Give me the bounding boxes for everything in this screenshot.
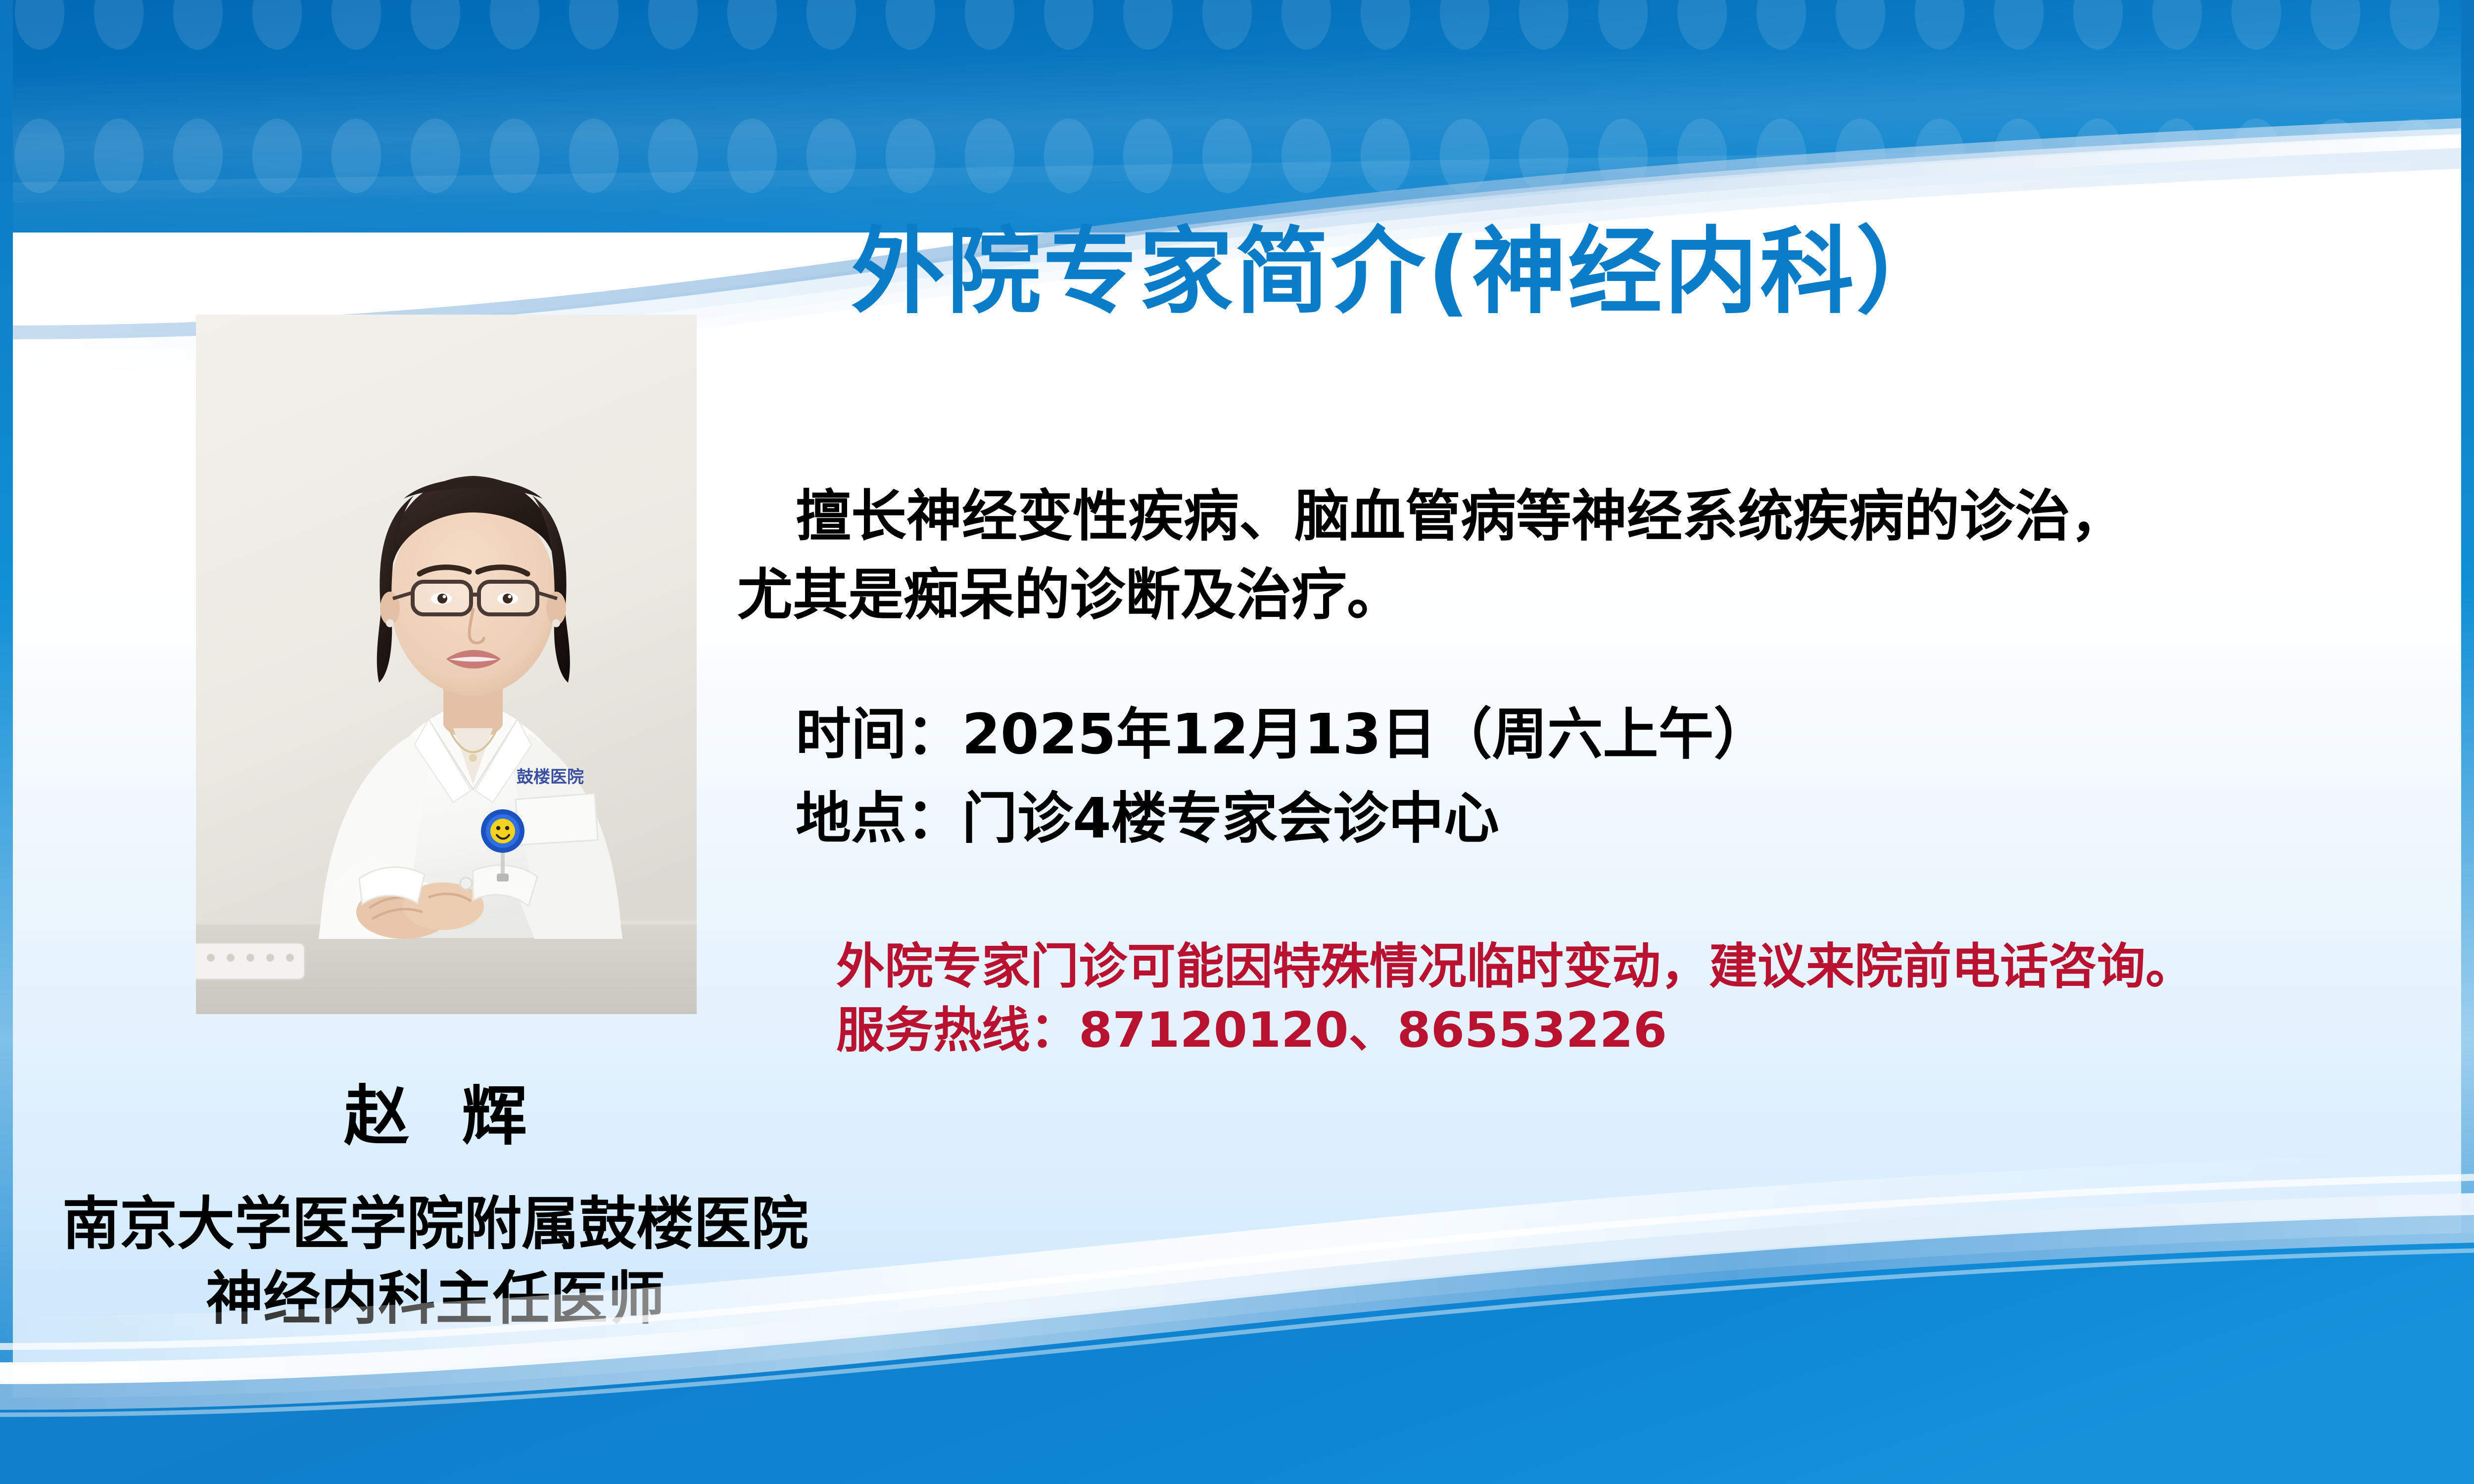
coat-embroidery-text: 鼓楼医院 [517, 767, 584, 787]
schedule-location: 地点：门诊4楼专家会诊中心 [737, 777, 2429, 861]
specialty-description: 擅长神经变性疾病、脑血管病等神经系统疾病的诊治， 尤其是痴呆的诊断及治疗。 [737, 477, 2429, 635]
keyboard-prop [196, 943, 305, 979]
notice-disclaimer: 外院专家门诊可能因特殊情况临时变动，建议来院前电话咨询。 [836, 935, 2469, 999]
expert-profile-poster: 外院专家简介(神经内科） [0, 0, 2474, 1484]
bottom-wave-decoration [0, 1039, 2474, 1484]
schedule-time: 时间：2025年12月13日（周六上午） [737, 693, 2429, 777]
doctor-portrait-illustration: 鼓楼医院 [196, 315, 697, 1014]
specialty-line-1: 擅长神经变性疾病、脑血管病等神经系统疾病的诊治， [737, 477, 2429, 556]
doctor-photo: 鼓楼医院 [196, 315, 697, 1014]
schedule-block: 时间：2025年12月13日（周六上午） 地点：门诊4楼专家会诊中心 [737, 693, 2429, 861]
specialty-line-2: 尤其是痴呆的诊断及治疗。 [737, 556, 2429, 635]
page-title: 外院专家简介(神经内科） [851, 225, 2434, 319]
